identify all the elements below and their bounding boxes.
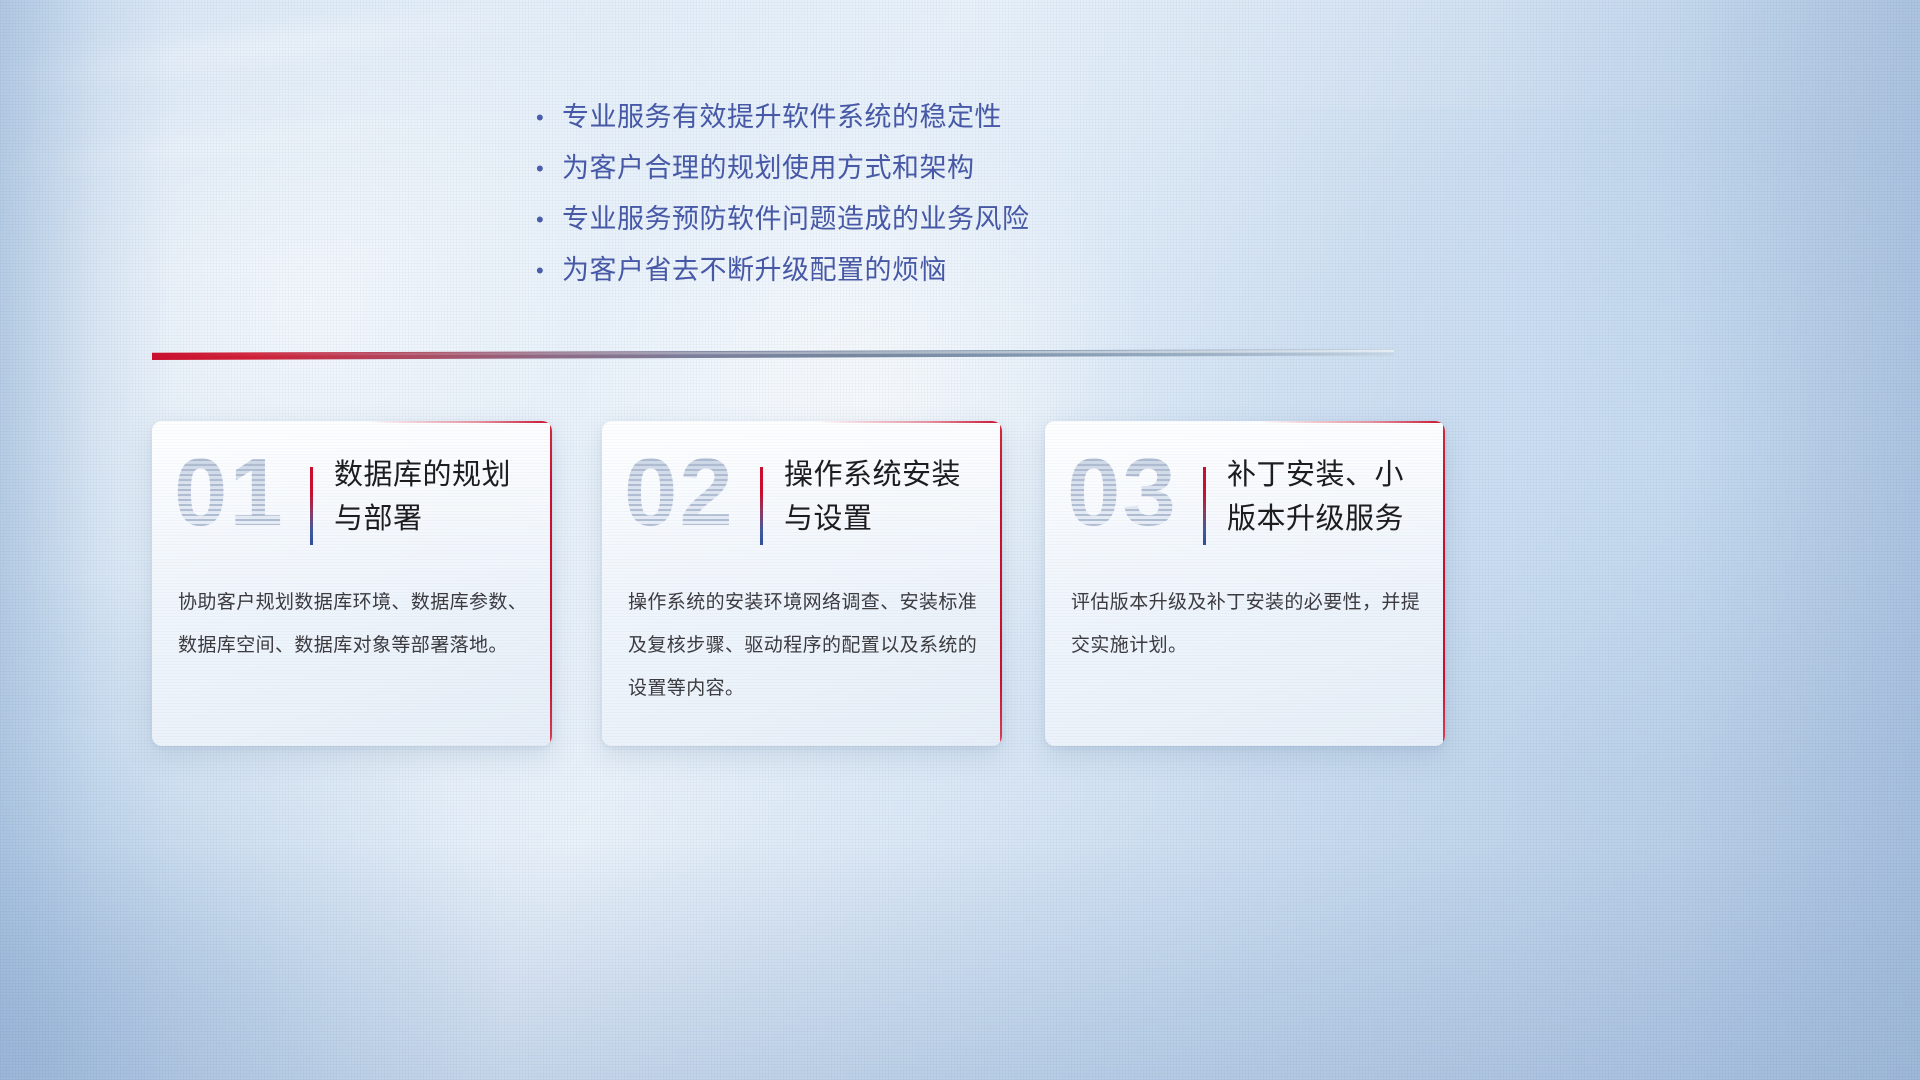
bullet-dot-icon: • [536, 245, 562, 296]
service-card-group: 01 数据库的规划与部署 协助客户规划数据库环境、数据库参数、数据库空间、数据库… [152, 421, 1452, 746]
card-top-accent [818, 421, 1002, 423]
card-number-watermark: 02 [624, 445, 735, 541]
benefits-bullet-list: • 专业服务有效提升软件系统的稳定性 • 为客户合理的规划使用方式和架构 • 专… [536, 92, 1236, 296]
card-description: 评估版本升级及补丁安装的必要性，并提交实施计划。 [1071, 581, 1423, 667]
bullet-item-text: 为客户合理的规划使用方式和架构 [562, 143, 975, 194]
list-item: • 为客户省去不断升级配置的烦恼 [536, 245, 1236, 296]
card-top-accent [1261, 421, 1445, 423]
card-header: 01 数据库的规划与部署 [152, 439, 552, 559]
bullet-dot-icon: • [536, 194, 562, 245]
bullet-item-text: 专业服务预防软件问题造成的业务风险 [562, 194, 1030, 245]
card-title-divider [760, 467, 763, 545]
bullet-item-text: 专业服务有效提升软件系统的稳定性 [562, 92, 1002, 143]
card-description: 协助客户规划数据库环境、数据库参数、数据库空间、数据库对象等部署落地。 [178, 581, 530, 667]
card-title-divider [310, 467, 313, 545]
service-card[interactable]: 02 操作系统安装与设置 操作系统的安装环境网络调查、安装标准及复核步骤、驱动程… [602, 421, 1002, 746]
list-item: • 为客户合理的规划使用方式和架构 [536, 143, 1236, 194]
card-title: 数据库的规划与部署 [334, 453, 540, 541]
bullet-dot-icon: • [536, 143, 562, 194]
list-item: • 专业服务有效提升软件系统的稳定性 [536, 92, 1236, 143]
card-header: 03 补丁安装、小版本升级服务 [1045, 439, 1445, 559]
bullet-dot-icon: • [536, 92, 562, 143]
card-title: 操作系统安装与设置 [784, 453, 990, 541]
card-description: 操作系统的安装环境网络调查、安装标准及复核步骤、驱动程序的配置以及系统的设置等内… [628, 581, 980, 710]
list-item: • 专业服务预防软件问题造成的业务风险 [536, 194, 1236, 245]
card-number-watermark: 01 [174, 445, 285, 541]
card-top-accent [368, 421, 552, 423]
card-header: 02 操作系统安装与设置 [602, 439, 1002, 559]
card-number-watermark: 03 [1067, 445, 1178, 541]
section-divider [152, 349, 1394, 360]
bullet-item-text: 为客户省去不断升级配置的烦恼 [562, 245, 947, 296]
card-title-divider [1203, 467, 1206, 545]
card-title: 补丁安装、小版本升级服务 [1227, 453, 1433, 541]
service-card[interactable]: 01 数据库的规划与部署 协助客户规划数据库环境、数据库参数、数据库空间、数据库… [152, 421, 552, 746]
service-card[interactable]: 03 补丁安装、小版本升级服务 评估版本升级及补丁安装的必要性，并提交实施计划。 [1045, 421, 1445, 746]
